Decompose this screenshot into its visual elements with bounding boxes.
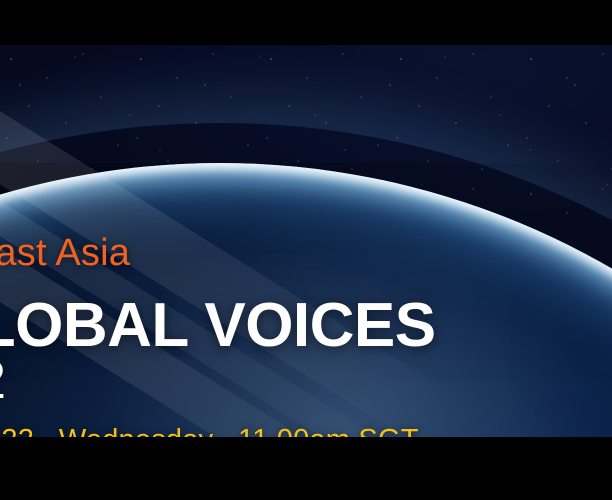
- banner-stage: theast Asia GLOBAL VOICES 2 ber 2022 . W…: [0, 0, 612, 500]
- letterbox-bar-top: [0, 0, 612, 45]
- letterbox-bar-bottom: [0, 437, 612, 500]
- banner-kicker: theast Asia: [0, 234, 130, 272]
- banner-year: 2: [0, 353, 6, 407]
- space-photo: theast Asia GLOBAL VOICES 2 ber 2022 . W…: [0, 45, 612, 437]
- banner-dateline: ber 2022 . Wednesday . 11.00am SGT: [0, 426, 419, 437]
- banner-headline: GLOBAL VOICES: [0, 295, 436, 357]
